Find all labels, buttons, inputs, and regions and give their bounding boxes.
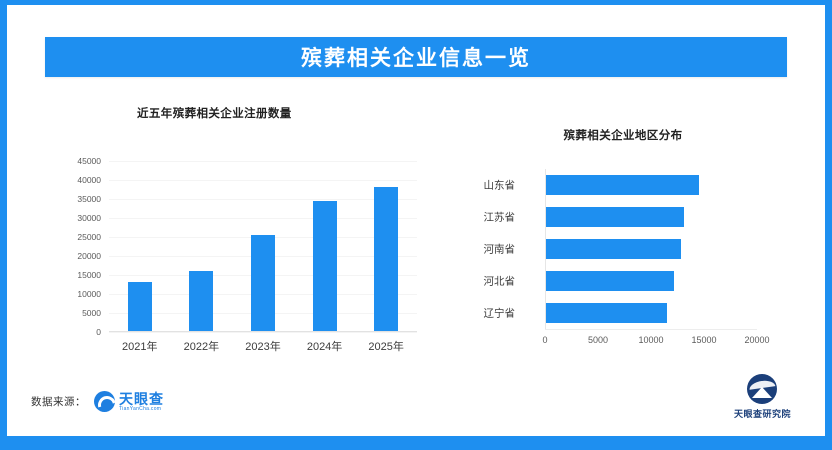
x-axis-label: 2021年 [109, 338, 171, 354]
column-bar [128, 282, 152, 331]
institute-logo: 天眼查研究院 [734, 374, 791, 420]
column-chart-baseline [109, 331, 417, 332]
page-title-banner: 殡葬相关企业信息一览 [45, 37, 787, 77]
x-axis-label: 2025年 [355, 338, 417, 354]
panel-registrations: 近五年殡葬相关企业注册数量 05000100001500020000250003… [37, 105, 437, 353]
column-bar-cell [232, 161, 294, 331]
chart-title-registrations: 近五年殡葬相关企业注册数量 [137, 105, 437, 121]
bar-category-label: 河北省 [484, 274, 516, 289]
x-axis-tick: 0 [542, 335, 547, 345]
institute-mark-icon [747, 374, 777, 404]
bar-category-label: 江苏省 [484, 210, 516, 225]
bar-category-label: 河南省 [484, 242, 516, 257]
bar-row [546, 271, 758, 291]
x-axis-label: 2023年 [232, 338, 294, 354]
tianyancha-name-cn: 天眼查 [119, 392, 164, 406]
bar-chart-axis-line [545, 329, 757, 330]
column-chart-x-labels: 2021年2022年2023年2024年2025年 [109, 338, 417, 354]
y-axis-tick: 45000 [77, 156, 101, 166]
column-bar-cell [171, 161, 233, 331]
grid-line [109, 332, 417, 333]
column-bar [189, 271, 213, 331]
bar-fill [546, 239, 681, 259]
column-chart-y-axis: 0500010000150002000025000300003500040000… [51, 161, 105, 332]
chart-title-region: 殡葬相关企业地区分布 [437, 127, 809, 143]
panel-region-distribution: 殡葬相关企业地区分布 山东省江苏省河南省河北省辽宁省 0500010000150… [437, 105, 809, 364]
x-axis-label: 2022年 [171, 338, 233, 354]
column-chart-plot [109, 161, 417, 332]
y-axis-tick: 30000 [77, 213, 101, 223]
y-axis-tick: 0 [96, 327, 101, 337]
bar-chart-x-labels: 05000100001500020000 [545, 335, 757, 351]
bar-fill [546, 271, 674, 291]
column-chart-registrations: 0500010000150002000025000300003500040000… [51, 153, 431, 353]
column-bar [251, 235, 275, 331]
bar-row [546, 303, 758, 323]
data-source: 数据来源： 天眼查 TianYanCha.com [31, 391, 164, 412]
column-bar-cell [355, 161, 417, 331]
bar-category-label: 辽宁省 [484, 306, 516, 321]
column-bar-cell [109, 161, 171, 331]
bar-row [546, 239, 758, 259]
data-source-label: 数据来源： [31, 394, 86, 409]
column-bar [374, 187, 398, 331]
bar-chart-plot [545, 169, 758, 329]
tianyancha-eye-icon [94, 391, 115, 412]
bar-fill [546, 207, 684, 227]
bar-row [546, 175, 758, 195]
tianyancha-wordmark: 天眼查 TianYanCha.com [119, 392, 164, 412]
y-axis-tick: 35000 [77, 194, 101, 204]
institute-name: 天眼查研究院 [734, 407, 791, 420]
y-axis-tick: 5000 [82, 308, 101, 318]
poster-frame: 殡葬相关企业信息一览 近五年殡葬相关企业注册数量 050001000015000… [0, 0, 832, 450]
bar-chart-region: 山东省江苏省河南省河北省辽宁省 05000100001500020000 [451, 169, 801, 364]
tianyancha-name-en: TianYanCha.com [119, 407, 164, 412]
x-axis-tick: 15000 [691, 335, 716, 345]
bar-fill [546, 175, 699, 195]
column-bar-cell [294, 161, 356, 331]
bar-chart-category-axis: 山东省江苏省河南省河北省辽宁省 [451, 169, 521, 329]
column-chart-bars [109, 161, 417, 331]
bar-category-label: 山东省 [484, 178, 516, 193]
y-axis-tick: 20000 [77, 251, 101, 261]
y-axis-tick: 15000 [77, 270, 101, 280]
x-axis-tick: 10000 [638, 335, 663, 345]
page-title: 殡葬相关企业信息一览 [301, 42, 531, 72]
x-axis-tick: 5000 [588, 335, 608, 345]
y-axis-tick: 10000 [77, 289, 101, 299]
x-axis-label: 2024年 [294, 338, 356, 354]
x-axis-tick: 20000 [744, 335, 769, 345]
y-axis-tick: 25000 [77, 232, 101, 242]
bar-fill [546, 303, 667, 323]
column-bar [313, 201, 337, 331]
tianyancha-logo: 天眼查 TianYanCha.com [94, 391, 164, 412]
y-axis-tick: 40000 [77, 175, 101, 185]
poster-inner: 殡葬相关企业信息一览 近五年殡葬相关企业注册数量 050001000015000… [7, 5, 825, 436]
bar-row [546, 207, 758, 227]
